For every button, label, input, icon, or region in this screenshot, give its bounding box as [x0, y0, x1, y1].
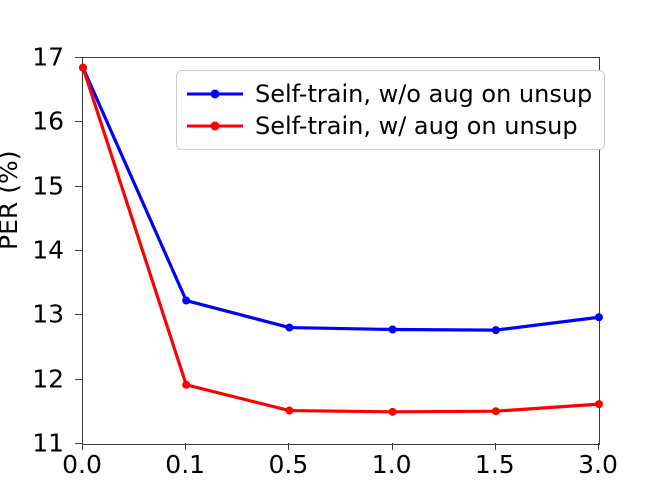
- x-tick-label: 0.5: [269, 452, 309, 477]
- chart-figure: PER (%) 11121314151617 Self-train, w/o a…: [0, 0, 664, 498]
- data-point: [389, 408, 397, 416]
- y-tick-mark: [75, 57, 82, 58]
- y-tick-mark: [75, 250, 82, 251]
- legend-swatch-red: [187, 116, 243, 136]
- x-tick-label: 0.0: [62, 452, 102, 477]
- y-tick-mark: [75, 186, 82, 187]
- x-tick-label: 1.5: [475, 452, 515, 477]
- y-tick-label: 16: [32, 109, 64, 134]
- legend-swatch-blue: [187, 84, 243, 104]
- data-point: [182, 297, 190, 305]
- x-tick-mark: [495, 443, 496, 450]
- y-tick-label: 15: [32, 173, 64, 198]
- y-tick-label: 14: [32, 238, 64, 263]
- x-tick-mark: [392, 443, 393, 450]
- y-tick-mark: [75, 314, 82, 315]
- legend-label-0: Self-train, w/o aug on unsup: [255, 82, 592, 106]
- y-tick-mark: [75, 443, 82, 444]
- data-point: [389, 325, 397, 333]
- legend-entry-0: Self-train, w/o aug on unsup: [187, 78, 592, 110]
- x-tick-label: 3.0: [578, 452, 618, 477]
- data-point: [79, 64, 87, 72]
- x-tick-label: 1.0: [372, 452, 412, 477]
- x-tick-mark: [82, 443, 83, 450]
- x-tick-label: 0.1: [165, 452, 205, 477]
- data-point: [182, 381, 190, 389]
- data-point: [492, 407, 500, 415]
- x-tick-mark: [185, 443, 186, 450]
- data-point: [595, 400, 603, 408]
- data-point: [285, 407, 293, 415]
- y-tick-mark: [75, 121, 82, 122]
- y-tick-label: 17: [32, 45, 64, 70]
- legend-label-1: Self-train, w/ aug on unsup: [255, 114, 578, 138]
- y-tick-mark: [75, 379, 82, 380]
- legend-entry-1: Self-train, w/ aug on unsup: [187, 110, 592, 142]
- y-tick-label: 11: [32, 431, 64, 456]
- data-point: [492, 326, 500, 334]
- data-point: [595, 313, 603, 321]
- y-axis-tick-labels: 11121314151617: [0, 0, 76, 498]
- chart-legend: Self-train, w/o aug on unsup Self-train,…: [176, 70, 605, 150]
- data-point: [285, 324, 293, 332]
- y-tick-label: 12: [32, 366, 64, 391]
- x-tick-mark: [288, 443, 289, 450]
- y-tick-label: 13: [32, 302, 64, 327]
- x-tick-mark: [598, 443, 599, 450]
